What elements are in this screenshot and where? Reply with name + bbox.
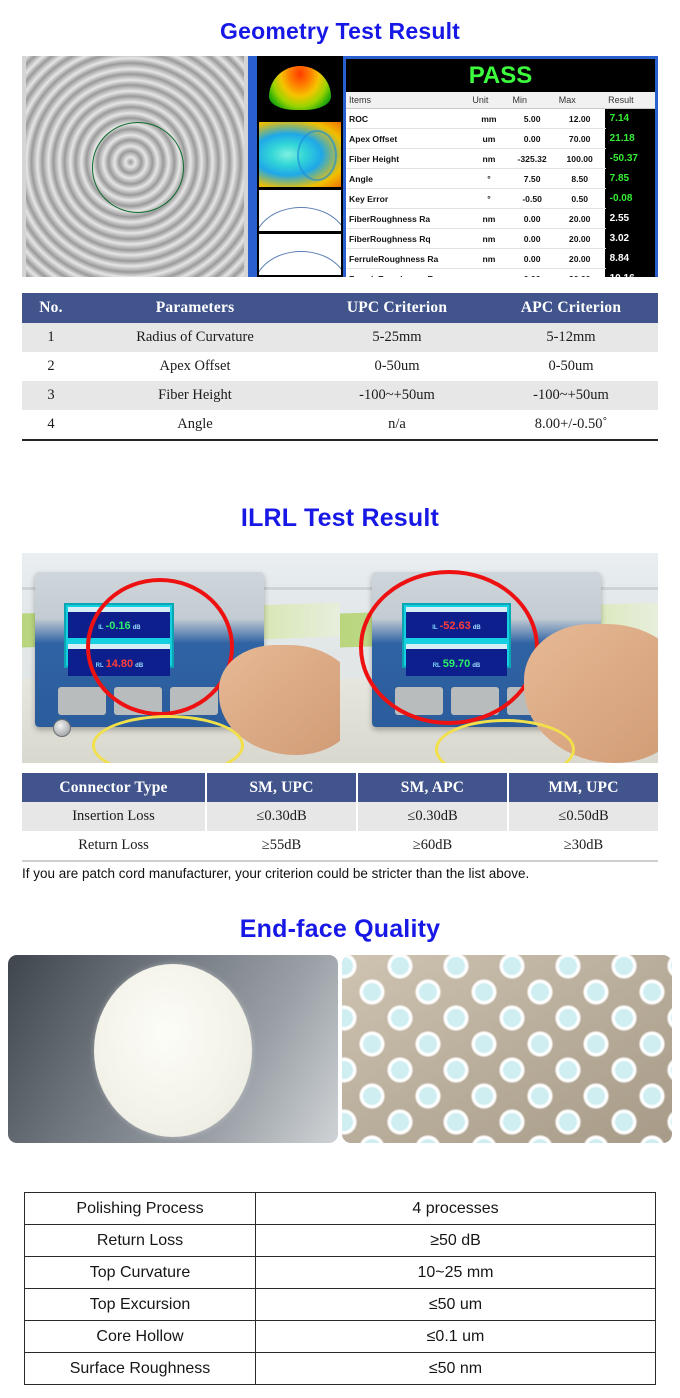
table-row: Top Excursion≤50 um	[25, 1289, 656, 1321]
result-max: 20.00	[556, 249, 605, 269]
table-row: Top Curvature10~25 mm	[25, 1257, 656, 1289]
interferogram-left-edge	[22, 56, 26, 277]
ilrl-test-photos: IL-0.16dB RL14.80dB	[22, 553, 658, 763]
table-row: Core Hollow≤0.1 um	[25, 1321, 656, 1353]
spec-value: ≤50 nm	[256, 1353, 656, 1385]
panel-divider	[248, 56, 257, 277]
result-item: FerruleRoughness Rq	[346, 269, 469, 278]
spec-label: Surface Roughness	[25, 1353, 256, 1385]
result-item: ROC	[346, 109, 469, 129]
spec-label: Top Curvature	[25, 1257, 256, 1289]
result-value: 21.18	[605, 129, 654, 149]
cell-value: ≤0.30dB	[357, 802, 508, 831]
result-min: 0.00	[509, 269, 555, 278]
spec-value: ≤0.1 um	[256, 1321, 656, 1353]
result-min: -325.32	[509, 149, 555, 169]
result-min: 7.50	[509, 169, 555, 189]
cell-parameter: Angle	[80, 410, 310, 440]
result-col-unit: Unit	[469, 92, 509, 109]
meter-button	[58, 687, 106, 715]
cell-upc: 0-50um	[310, 352, 484, 381]
ilrl-criteria-table: Connector Type SM, UPC SM, APC MM, UPC I…	[22, 773, 658, 862]
result-col-min: Min	[509, 92, 555, 109]
result-max: 70.00	[556, 129, 605, 149]
cell-metric: Insertion Loss	[22, 802, 206, 831]
result-unit: °	[469, 169, 509, 189]
ilrl-col-mm-upc: MM, UPC	[508, 773, 658, 802]
geometry-test-screenshot: PASS Items Unit Min Max Result ROCmm5.00…	[22, 56, 658, 277]
result-col-result: Result	[605, 92, 654, 109]
result-unit: nm	[469, 209, 509, 229]
spec-label: Top Excursion	[25, 1289, 256, 1321]
result-row: Key Error°-0.500.50-0.08	[346, 189, 655, 209]
table-row: Return Loss≥55dB≥60dB≥30dB	[22, 831, 658, 861]
cell-upc: 5-25mm	[310, 323, 484, 352]
multi-fiber-endface-photo	[342, 955, 672, 1143]
table-row: 1Radius of Curvature5-25mm5-12mm	[22, 323, 658, 352]
geometry-col-params: Parameters	[80, 293, 310, 323]
geometry-plots-column	[257, 56, 343, 277]
profile-curve	[259, 207, 341, 231]
endface-photos	[0, 955, 680, 1143]
table-row: 3Fiber Height-100~+50um-100~+50um	[22, 381, 658, 410]
endface-spec-table: Polishing Process4 processesReturn Loss≥…	[24, 1192, 656, 1385]
result-min: 0.00	[509, 129, 555, 149]
result-min: -0.50	[509, 189, 555, 209]
profile-curve	[259, 251, 341, 275]
fiber-array-pattern-offset	[342, 955, 672, 1143]
heatmap-contour	[297, 130, 337, 181]
endface-section-title: End-face Quality	[0, 915, 680, 944]
result-item: FiberRoughness Ra	[346, 209, 469, 229]
result-unit: °	[469, 189, 509, 209]
result-row: Apex Offsetum0.0070.0021.18	[346, 129, 655, 149]
cell-value: ≥60dB	[357, 831, 508, 861]
meter-port	[53, 719, 71, 737]
cell-apc: 8.00+/-0.50˚	[484, 410, 658, 440]
measurement-result-panel: PASS Items Unit Min Max Result ROCmm5.00…	[343, 56, 658, 277]
cell-value: ≤0.50dB	[508, 802, 658, 831]
table-row: 4Anglen/a8.00+/-0.50˚	[22, 410, 658, 440]
result-min: 5.00	[509, 109, 555, 129]
result-item: FiberRoughness Rq	[346, 229, 469, 249]
result-min: 0.00	[509, 229, 555, 249]
ilrl-photo-left: IL-0.16dB RL14.80dB	[22, 553, 340, 763]
result-unit: nm	[469, 229, 509, 249]
geometry-section-title: Geometry Test Result	[0, 18, 680, 45]
spec-label: Return Loss	[25, 1225, 256, 1257]
ilrl-section-title: ILRL Test Result	[0, 504, 680, 533]
ferrule-endface-disc	[94, 964, 252, 1137]
cell-no: 4	[22, 410, 80, 440]
result-value: -0.08	[605, 189, 654, 209]
cell-no: 1	[22, 323, 80, 352]
cell-value: ≥55dB	[206, 831, 357, 861]
profile-plot-y	[259, 234, 341, 275]
result-item: Key Error	[346, 189, 469, 209]
result-row: Angle°7.508.507.85	[346, 169, 655, 189]
ilrl-col-sm-upc: SM, UPC	[206, 773, 357, 802]
result-unit: nm	[469, 149, 509, 169]
result-item: Angle	[346, 169, 469, 189]
result-value: -50.37	[605, 149, 654, 169]
result-value: 2.55	[605, 209, 654, 229]
table-row: Insertion Loss≤0.30dB≤0.30dB≤0.50dB	[22, 802, 658, 831]
result-header-row: Items Unit Min Max Result	[346, 92, 655, 109]
geometry-header-row: No. Parameters UPC Criterion APC Criteri…	[22, 293, 658, 323]
result-row: Fiber Heightnm-325.32100.00-50.37	[346, 149, 655, 169]
result-max: 100.00	[556, 149, 605, 169]
spec-value: 10~25 mm	[256, 1257, 656, 1289]
result-min: 0.00	[509, 209, 555, 229]
result-row: FerruleRoughness Rqnm0.0020.0010.16	[346, 269, 655, 278]
cell-value: ≥30dB	[508, 831, 658, 861]
result-min: 0.00	[509, 249, 555, 269]
cell-apc: 5-12mm	[484, 323, 658, 352]
geometry-col-no: No.	[22, 293, 80, 323]
criterion-note: If you are patch cord manufacturer, your…	[22, 866, 662, 881]
result-unit: mm	[469, 109, 509, 129]
result-item: Fiber Height	[346, 149, 469, 169]
ilrl-photo-right: IL-52.63dB RL59.70dB	[340, 553, 658, 763]
result-value: 7.85	[605, 169, 654, 189]
result-row: FiberRoughness Rqnm0.0020.003.02	[346, 229, 655, 249]
result-row: FerruleRoughness Ranm0.0020.008.84	[346, 249, 655, 269]
cell-parameter: Fiber Height	[80, 381, 310, 410]
cell-parameter: Radius of Curvature	[80, 323, 310, 352]
cell-apc: 0-50um	[484, 352, 658, 381]
table-row: Surface Roughness≤50 nm	[25, 1353, 656, 1385]
cell-parameter: Apex Offset	[80, 352, 310, 381]
highlight-circle	[359, 570, 539, 725]
geometry-col-upc: UPC Criterion	[310, 293, 484, 323]
cell-value: ≤0.30dB	[206, 802, 357, 831]
result-value: 8.84	[605, 249, 654, 269]
result-unit: nm	[469, 249, 509, 269]
result-max: 8.50	[556, 169, 605, 189]
measurement-result-table: Items Unit Min Max Result ROCmm5.0012.00…	[346, 92, 655, 277]
geometry-criteria-table: No. Parameters UPC Criterion APC Criteri…	[22, 293, 658, 441]
cell-upc: -100~+50um	[310, 381, 484, 410]
result-value: 10.16	[605, 269, 654, 278]
pass-status-banner: PASS	[346, 59, 655, 92]
result-value: 7.14	[605, 109, 654, 129]
result-max: 20.00	[556, 209, 605, 229]
cell-no: 2	[22, 352, 80, 381]
result-unit: nm	[469, 269, 509, 278]
interference-heatmap	[259, 122, 341, 187]
result-col-max: Max	[556, 92, 605, 109]
table-row: Polishing Process4 processes	[25, 1193, 656, 1225]
spec-value: ≥50 dB	[256, 1225, 656, 1257]
ilrl-col-type: Connector Type	[22, 773, 206, 802]
surface-3d-plot	[259, 58, 341, 120]
result-max: 20.00	[556, 269, 605, 278]
single-fiber-endface-photo	[8, 955, 338, 1143]
surface-dome	[269, 66, 331, 110]
result-row: FiberRoughness Ranm0.0020.002.55	[346, 209, 655, 229]
result-max: 0.50	[556, 189, 605, 209]
result-col-items: Items	[346, 92, 469, 109]
result-unit: um	[469, 129, 509, 149]
result-max: 12.00	[556, 109, 605, 129]
spec-label: Core Hollow	[25, 1321, 256, 1353]
cell-upc: n/a	[310, 410, 484, 440]
ilrl-header-row: Connector Type SM, UPC SM, APC MM, UPC	[22, 773, 658, 802]
result-row: ROCmm5.0012.007.14	[346, 109, 655, 129]
profile-plot-x	[259, 190, 341, 231]
table-row: 2Apex Offset0-50um0-50um	[22, 352, 658, 381]
cell-apc: -100~+50um	[484, 381, 658, 410]
spec-label: Polishing Process	[25, 1193, 256, 1225]
highlight-circle	[86, 578, 234, 716]
result-value: 3.02	[605, 229, 654, 249]
geometry-col-apc: APC Criterion	[484, 293, 658, 323]
result-item: Apex Offset	[346, 129, 469, 149]
cell-no: 3	[22, 381, 80, 410]
result-max: 20.00	[556, 229, 605, 249]
cell-metric: Return Loss	[22, 831, 206, 861]
result-item: FerruleRoughness Ra	[346, 249, 469, 269]
table-row: Return Loss≥50 dB	[25, 1225, 656, 1257]
spec-value: ≤50 um	[256, 1289, 656, 1321]
ilrl-col-sm-apc: SM, APC	[357, 773, 508, 802]
spec-value: 4 processes	[256, 1193, 656, 1225]
interferogram-image	[22, 56, 248, 277]
